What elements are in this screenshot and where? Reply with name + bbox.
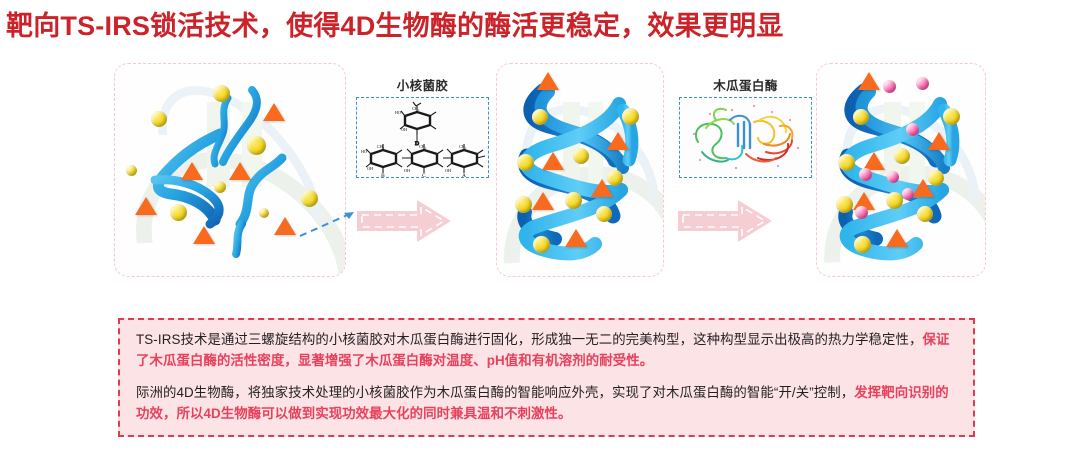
orange-triangle [565, 229, 587, 247]
inset-scleroglucan-label: 小核菌胶 [356, 75, 489, 94]
svg-text:CH₂: CH₂ [412, 106, 420, 111]
yellow-sphere [622, 108, 639, 125]
orange-triangle [542, 152, 564, 170]
orange-triangle [135, 197, 157, 215]
yellow-sphere [596, 206, 612, 222]
description-paragraph-2: 际洲的4D生物酶，将独家技术处理的小核菌胶作为木瓜蛋白酶的智能响应外壳，实现了对… [120, 371, 973, 424]
orange-triangle [928, 132, 950, 150]
slide-root: 靶向TS-IRS锁活技术，使得4D生物酶的酶活更稳定，效果更明显 [0, 0, 1080, 450]
orange-triangle [274, 217, 296, 235]
svg-text:OH: OH [404, 168, 410, 173]
inset-papain: 木瓜蛋白酶 [679, 75, 812, 178]
pink-sphere [883, 80, 896, 93]
scleroglucan-structure-diagram: D CH₂HOOH CH₂HOOH CH₂OH CH₂OH [356, 97, 489, 178]
pink-sphere [916, 77, 929, 90]
paragraph-2-plain: 际洲的4D生物酶，将独家技术处理的小核菌胶作为木瓜蛋白酶的智能响应外壳，实现了对… [136, 385, 854, 400]
inset-scleroglucan: 小核菌胶 D [356, 75, 489, 178]
orange-triangle [858, 72, 880, 90]
svg-text:CH₂: CH₂ [377, 144, 385, 149]
orange-triangle [229, 162, 251, 180]
yellow-sphere [247, 136, 266, 155]
svg-text:OH: OH [367, 166, 373, 171]
svg-text:HO: HO [361, 149, 367, 154]
yellow-sphere [151, 111, 167, 127]
panel-triple-helix [496, 63, 664, 277]
yellow-sphere [854, 236, 871, 253]
yellow-sphere [853, 109, 869, 125]
svg-text:CH₂: CH₂ [459, 144, 467, 149]
pink-sphere [906, 123, 919, 136]
yellow-sphere [928, 170, 944, 186]
process-diagram: 小核菌胶 D [0, 56, 1080, 306]
svg-text:C: C [422, 173, 426, 178]
orange-triangle [532, 192, 554, 210]
arrow-step-1 [355, 198, 453, 244]
orange-triangle [193, 226, 215, 244]
yellow-sphere [943, 108, 960, 125]
orange-triangle [886, 229, 908, 247]
pink-sphere [859, 168, 872, 181]
pink-sphere [887, 171, 899, 183]
svg-text:CH₂: CH₂ [419, 144, 427, 149]
yellow-sphere [886, 192, 903, 209]
yellow-sphere [259, 208, 269, 218]
yellow-sphere [573, 148, 589, 164]
panel-free-polymer [114, 63, 346, 277]
yellow-sphere [565, 192, 582, 209]
yellow-sphere [213, 85, 230, 102]
svg-text:A: A [462, 173, 466, 178]
yellow-sphere [607, 170, 623, 186]
yellow-sphere [836, 196, 853, 213]
orange-triangle [537, 72, 559, 90]
page-title: 靶向TS-IRS锁活技术，使得4D生物酶的酶活更稳定，效果更明显 [6, 4, 783, 43]
arrow-step-2 [676, 198, 774, 244]
papain-ribbon-diagram [679, 97, 812, 178]
yellow-sphere [515, 196, 532, 213]
yellow-sphere [533, 236, 550, 253]
inset-papain-label: 木瓜蛋白酶 [679, 75, 812, 94]
svg-text:B: B [381, 173, 385, 178]
yellow-sphere [214, 181, 226, 193]
svg-text:OH: OH [445, 168, 451, 173]
orange-triangle [181, 162, 203, 180]
yellow-sphere [532, 109, 548, 125]
description-box: TS-IRS技术是通过三螺旋结构的小核菌胶对木瓜蛋白酶进行固化，形成独一无二的完… [118, 318, 975, 437]
yellow-sphere [894, 148, 910, 164]
svg-text:HO: HO [395, 110, 401, 115]
svg-text:OH: OH [401, 127, 407, 132]
yellow-sphere [126, 165, 137, 176]
yellow-sphere [838, 154, 855, 171]
pink-sphere [902, 188, 914, 200]
yellow-sphere [517, 154, 534, 171]
yellow-sphere [170, 204, 187, 221]
yellow-sphere [917, 206, 933, 222]
panel-4d-enzyme [816, 63, 986, 277]
paragraph-1-plain: TS-IRS技术是通过三螺旋结构的小核菌胶对木瓜蛋白酶进行固化，形成独一无二的完… [136, 332, 922, 347]
description-paragraph-1: TS-IRS技术是通过三螺旋结构的小核菌胶对木瓜蛋白酶进行固化，形成独一无二的完… [120, 320, 973, 371]
orange-triangle [263, 103, 285, 121]
pink-sphere [855, 206, 868, 219]
orange-triangle [607, 132, 629, 150]
